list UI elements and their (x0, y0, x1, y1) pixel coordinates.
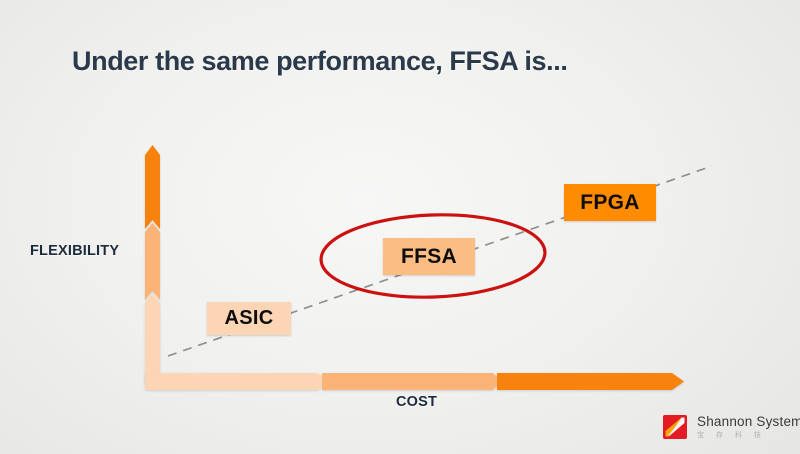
chart-graphics (0, 0, 800, 454)
x-axis-segment-mid (322, 373, 502, 390)
logo-text: Shannon Systems 宝 存 科 技 (697, 415, 800, 439)
y-axis-segment-mid (145, 223, 160, 300)
tech-box-asic[interactable]: ASIC (207, 302, 291, 335)
logo-company-name: Shannon Systems (697, 415, 800, 429)
shannon-logo-icon (662, 414, 688, 440)
y-axis-segment-high (145, 145, 160, 229)
slide-canvas: Under the same performance, FFSA is... (0, 0, 800, 454)
y-axis-label: FLEXIBILITY (30, 243, 119, 259)
x-axis-label: COST (396, 394, 437, 410)
y-axis-segment-low (145, 294, 160, 382)
logo-company-subtitle: 宝 存 科 技 (697, 432, 800, 439)
y-axis (145, 145, 160, 382)
tech-box-ffsa[interactable]: FFSA (383, 238, 475, 275)
brand-logo: Shannon Systems 宝 存 科 技 (662, 414, 800, 440)
x-axis-segment-high (497, 373, 684, 390)
tech-box-fpga[interactable]: FPGA (564, 184, 656, 221)
x-axis (145, 373, 684, 390)
x-axis-segment-low (145, 373, 327, 390)
